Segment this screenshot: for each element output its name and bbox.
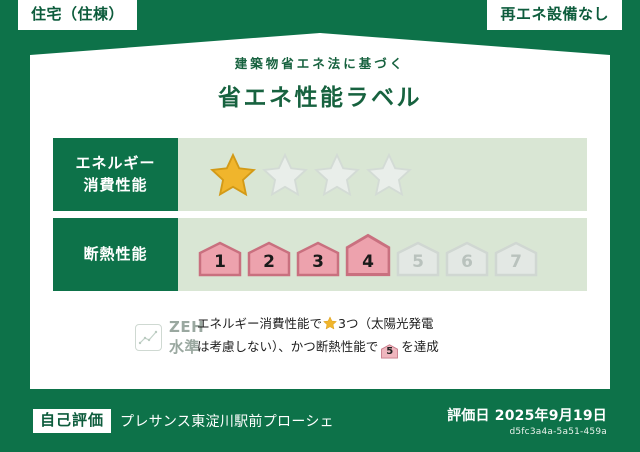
zeh-text-2b: を達成 xyxy=(401,339,439,354)
rating-rows: エネルギー 消費性能 断熱性能 1234567 xyxy=(53,138,587,298)
star-icon xyxy=(323,316,337,330)
inline-insulation-badge: 5 xyxy=(380,344,399,359)
energy-performance-label-box: エネルギー 消費性能 xyxy=(53,138,178,211)
evaluation-date-value: 2025年9月19日 xyxy=(495,408,607,424)
evaluation-id: d5fc3a4a-5a51-459a xyxy=(447,427,607,437)
insulation-level-3: 3 xyxy=(296,241,340,277)
assessment-type-badge: 自己評価 xyxy=(33,409,111,433)
insulation-level-2: 2 xyxy=(247,241,291,277)
energy-performance-row: エネルギー 消費性能 xyxy=(53,138,587,211)
zeh-text-1a: エネルギー消費性能で xyxy=(197,316,322,331)
insulation-performance-row: 断熱性能 1234567 xyxy=(53,218,587,291)
insulation-level-6: 6 xyxy=(445,241,489,277)
chart-icon xyxy=(135,324,162,351)
zeh-text-2a: は考慮しない）、かつ断熱性能で xyxy=(197,339,378,354)
zeh-mark: ZEH水準 xyxy=(53,312,193,357)
star-icon-empty xyxy=(262,152,308,197)
insulation-level-5: 5 xyxy=(396,241,440,277)
insulation-level-4: 4 xyxy=(345,233,391,277)
insulation-performance-value: 1234567 xyxy=(178,218,587,291)
insulation-level-value: 4 xyxy=(362,252,374,277)
title-subtitle: 建築物省エネ法に基づく xyxy=(0,53,640,72)
insulation-level-value: 3 xyxy=(312,252,324,277)
energy-performance-label: 住宅（住棟） 再エネ設備なし 建築物省エネ法に基づく 省エネ性能ラベル エネルギ… xyxy=(0,0,640,452)
energy-performance-value xyxy=(178,138,587,211)
energy-label-line2: 消費性能 xyxy=(83,175,147,197)
insulation-level-value: 5 xyxy=(412,252,424,277)
footer-left: 自己評価 プレサンス東淀川駅前プローシェ xyxy=(33,409,334,433)
insulation-level-badges: 1234567 xyxy=(198,233,538,277)
energy-label-line1: エネルギー xyxy=(75,153,155,175)
building-name: プレサンス東淀川駅前プローシェ xyxy=(120,411,334,431)
star-icon-empty xyxy=(366,152,412,197)
zeh-description: エネルギー消費性能で3つ（太陽光発電 は考慮しない）、かつ断熱性能で5を達成 xyxy=(193,312,587,359)
renewable-equipment-tag: 再エネ設備なし xyxy=(487,0,622,30)
insulation-level-value: 6 xyxy=(461,252,473,277)
evaluation-date-label: 評価日 xyxy=(447,408,490,424)
title-main: 省エネ性能ラベル xyxy=(0,78,640,112)
inline-badge-value: 5 xyxy=(380,344,399,360)
zeh-text-1b: 3つ（太陽光発電 xyxy=(338,316,433,331)
star-icon-empty xyxy=(314,152,360,197)
insulation-level-value: 7 xyxy=(510,252,522,277)
label-footer: 自己評価 プレサンス東淀川駅前プローシェ 評価日 2025年9月19日 d5fc… xyxy=(0,389,640,452)
star-icon-filled xyxy=(210,152,256,197)
zeh-standard-note: ZEH水準 エネルギー消費性能で3つ（太陽光発電 は考慮しない）、かつ断熱性能で… xyxy=(53,312,587,359)
insulation-level-1: 1 xyxy=(198,241,242,277)
insulation-performance-label-box: 断熱性能 xyxy=(53,218,178,291)
title-block: 建築物省エネ法に基づく 省エネ性能ラベル xyxy=(0,53,640,112)
evaluation-date: 評価日 2025年9月19日 xyxy=(447,405,607,425)
insulation-level-value: 2 xyxy=(263,252,275,277)
insulation-level-7: 7 xyxy=(494,241,538,277)
insulation-label-line1: 断熱性能 xyxy=(83,244,147,266)
building-type-tag: 住宅（住棟） xyxy=(18,0,137,30)
insulation-level-value: 1 xyxy=(214,252,226,277)
star-rating xyxy=(210,152,412,197)
footer-right: 評価日 2025年9月19日 d5fc3a4a-5a51-459a xyxy=(447,405,607,437)
